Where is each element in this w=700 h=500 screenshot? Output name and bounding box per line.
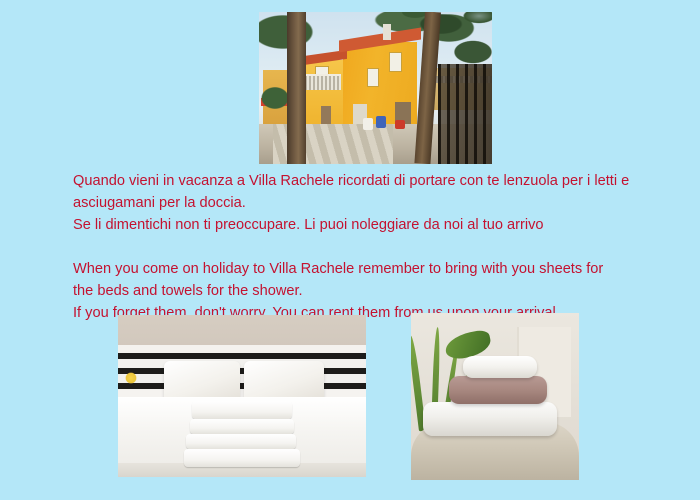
towel-roll-bottom-white — [423, 402, 557, 436]
villa-window-upper-mid — [367, 68, 379, 87]
bed-with-folded-sheets-photo — [118, 315, 366, 477]
italian-line-2: asciugamani per la doccia. — [73, 192, 663, 214]
italian-line-3: Se li dimentichi non ti preoccupare. Li … — [73, 214, 663, 236]
stacked-towels-photo — [411, 313, 579, 480]
folded-sheet-1 — [192, 401, 292, 419]
folded-sheet-3 — [186, 434, 296, 449]
villa-rachele-exterior-photo — [259, 12, 492, 164]
italian-line-1: Quando vieni in vacanza a Villa Rachele … — [73, 170, 663, 192]
english-line-2: the beds and towels for the shower. — [73, 280, 663, 302]
towel-roll-top-white — [463, 356, 537, 378]
villa-gate-bars — [438, 64, 492, 164]
bed-side-flower — [124, 371, 138, 385]
villa-pine-trunk-left — [287, 12, 306, 164]
english-line-1: When you come on holiday to Villa Rachel… — [73, 258, 663, 280]
folded-sheets-stack — [184, 401, 300, 467]
villa-pine-canopy — [399, 12, 492, 60]
folded-sheet-2 — [190, 419, 294, 434]
villa-patio-chair-blue — [376, 116, 386, 128]
notice-text-block: Quando vieni in vacanza a Villa Rachele … — [73, 170, 663, 324]
villa-patio-chair-white — [363, 118, 373, 130]
towel-roll-middle-pink — [449, 376, 547, 404]
villa-entrance-gate — [438, 64, 492, 164]
folded-sheet-4 — [184, 449, 300, 467]
villa-patio-chair-red — [395, 120, 405, 129]
villa-chimney — [383, 24, 391, 40]
page-root: Quando vieni in vacanza a Villa Rachele … — [0, 0, 700, 500]
paragraph-spacer — [73, 236, 663, 258]
villa-patio-furniture — [363, 116, 409, 132]
